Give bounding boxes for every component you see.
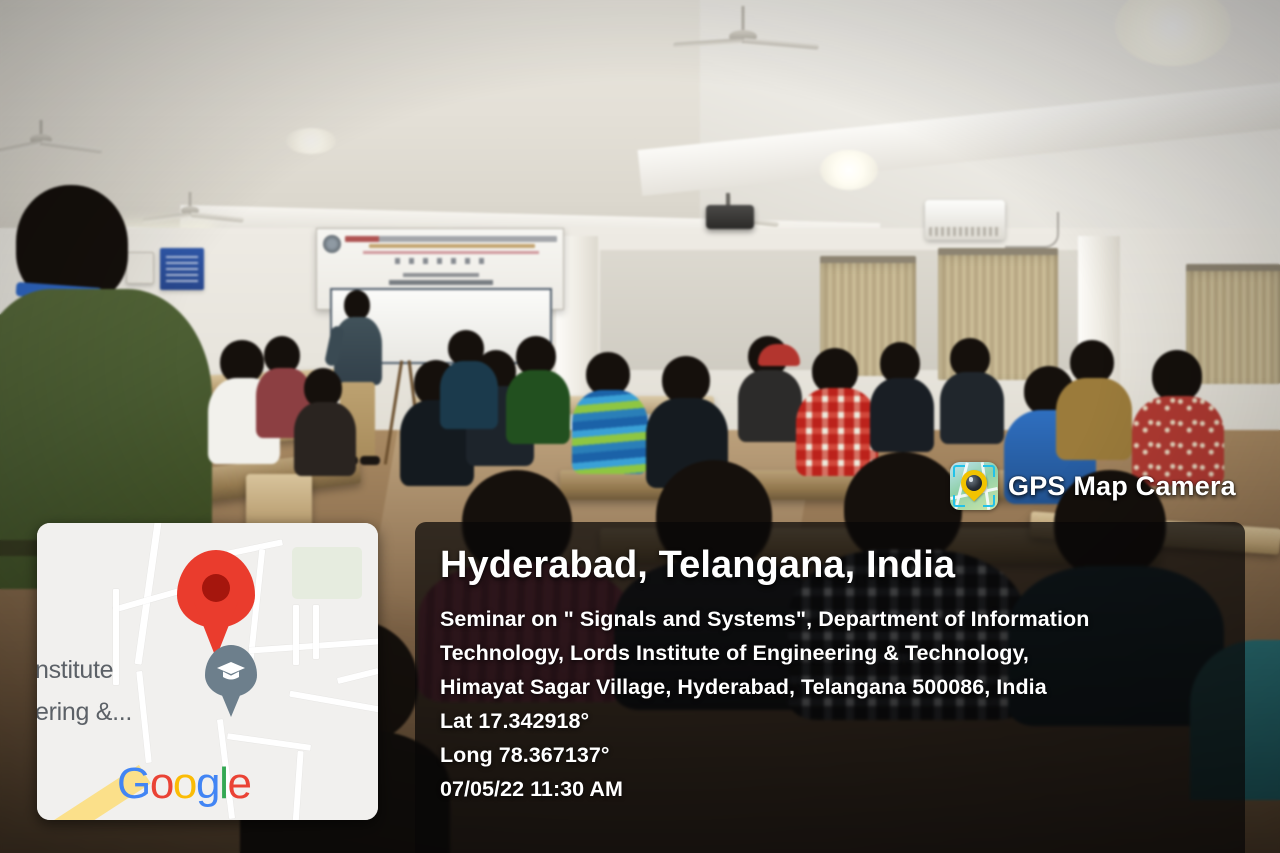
camera-lens-icon (966, 475, 982, 491)
slide-icon-row (395, 258, 487, 264)
map-label-line-1: nstitute (37, 656, 113, 685)
graduation-cap-icon (216, 661, 246, 683)
red-cap (758, 344, 800, 366)
slide-subtitle-line (369, 244, 535, 248)
map-thumbnail-card[interactable]: nstitute ering &... Google (37, 523, 378, 820)
latitude-value: Lat 17.342918° (440, 704, 1227, 738)
attendee-torso (506, 370, 570, 444)
location-info-panel: Hyderabad, Telangana, India Seminar on "… (415, 522, 1245, 853)
attendee-mustard-shirt (1062, 340, 1128, 454)
longitude-value: Long 78.367137° (440, 738, 1227, 772)
attendee-torso (294, 402, 356, 476)
map-green-area (292, 547, 362, 599)
google-letter-o2: o (173, 759, 196, 808)
attendee-torso (440, 361, 498, 429)
map-background: nstitute ering &... Google (37, 523, 378, 820)
attendee-cap (758, 344, 802, 384)
gps-map-camera-icon (950, 462, 998, 510)
speaker-shoe (360, 456, 380, 465)
map-road (136, 671, 152, 763)
address-line-1: Seminar on " Signals and Systems", Depar… (440, 602, 1227, 636)
gps-map-camera-watermark: GPS Map Camera (950, 462, 1236, 510)
attendee (510, 336, 568, 440)
attendee-torso (940, 372, 1004, 444)
institute-logo (323, 235, 341, 253)
google-letter-e: e (227, 759, 250, 808)
projector (706, 205, 754, 229)
attendee-head (1152, 350, 1202, 402)
map-label-line-2: ering &... (37, 698, 132, 727)
location-title: Hyderabad, Telangana, India (440, 546, 1227, 586)
google-letter-g: g (196, 759, 219, 808)
slide-topic-line (389, 280, 493, 285)
address-line-2: Technology, Lords Institute of Engineeri… (440, 636, 1227, 670)
ac-cable (1005, 212, 1059, 248)
map-road (227, 733, 311, 751)
watermark-label: GPS Map Camera (1008, 471, 1236, 502)
attendee-head (662, 356, 710, 404)
map-road (289, 691, 378, 714)
map-road (292, 751, 303, 820)
attendee-plaid-shirt (802, 348, 874, 468)
map-location-pin (177, 550, 255, 628)
google-letter-o1: o (150, 759, 173, 808)
attendee-torso (870, 378, 934, 452)
slide-text-line (403, 273, 479, 277)
slide-divider (363, 251, 539, 254)
ceiling-light (820, 150, 878, 190)
screenshot-root: GPS Map Camera Hyderabad, Telangana, Ind… (0, 0, 1280, 853)
attendee (874, 342, 932, 446)
google-letter-G: G (117, 759, 150, 808)
attendee-torso (1056, 378, 1132, 460)
map-road (313, 605, 319, 659)
speaker-head (344, 290, 370, 320)
timestamp-value: 07/05/22 11:30 AM (440, 772, 1227, 806)
slide-title-line (345, 236, 557, 242)
map-road (293, 605, 299, 665)
google-logo: Google (117, 759, 251, 809)
map-poi-marker (205, 645, 257, 697)
map-road (113, 589, 119, 685)
ceiling-fan (6, 120, 76, 150)
attendee (298, 368, 354, 472)
attendee-striped-shirt (578, 352, 644, 470)
ceiling-light (286, 128, 336, 154)
map-road (227, 539, 283, 557)
attendee-patterned-shirt (1140, 350, 1218, 480)
ceiling-fan (700, 6, 786, 42)
attendee (442, 330, 496, 426)
address-line-3: Himayat Sagar Village, Hyderabad, Telang… (440, 670, 1227, 704)
air-conditioner (925, 200, 1005, 240)
map-road (337, 668, 378, 684)
attendee (944, 338, 1002, 438)
